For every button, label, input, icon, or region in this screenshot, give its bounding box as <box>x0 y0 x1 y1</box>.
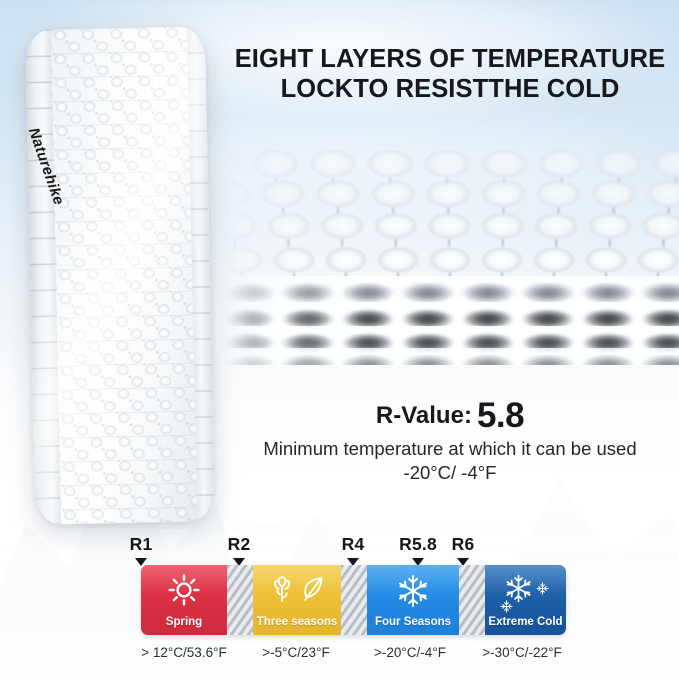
snowflakes-icon <box>485 573 566 604</box>
r-value-description: Minimum temperature at which it can be u… <box>228 437 672 484</box>
min-temp-description: Minimum temperature at which it can be u… <box>263 438 636 459</box>
segment-label: Spring <box>166 617 202 636</box>
layer-stack-illustration <box>218 150 679 365</box>
hatch-divider <box>459 565 485 635</box>
sun-icon <box>141 573 227 607</box>
temp-label-extreme-cold: >-30°C/-22°F <box>452 645 592 660</box>
segment-extreme-cold[interactable]: Extreme Cold <box>485 565 566 635</box>
product-infographic: Naturehike EIGHT LAYERS OF TEMPERATURE L… <box>0 0 679 679</box>
r-marker-r4: R4 <box>333 536 373 566</box>
headline: EIGHT LAYERS OF TEMPERATURE LOCKTO RESIS… <box>232 44 668 104</box>
r-marker-r1: R1 <box>121 536 161 566</box>
flower-leaf-icon <box>253 573 341 605</box>
sleeping-pad-product: Naturehike <box>25 26 215 525</box>
hatch-divider <box>227 565 253 635</box>
segment-three-seasons[interactable]: Three seasons <box>253 565 341 635</box>
segment-spring[interactable]: Spring <box>141 565 227 635</box>
r-marker-r6: R6 <box>443 536 483 566</box>
hatch-divider <box>341 565 367 635</box>
r-value-label: R-Value: <box>376 402 472 430</box>
headline-line-1: EIGHT LAYERS OF TEMPERATURE <box>235 45 666 73</box>
min-temp-value: -20°C/ -4°F <box>404 462 497 483</box>
segment-four-seasons[interactable]: Four Seasons <box>367 565 459 635</box>
r-marker-label: R4 <box>333 536 373 554</box>
r-marker-label: R1 <box>121 536 161 554</box>
wave-layer <box>218 348 679 365</box>
r-value-block: R-Value:5.8 <box>228 396 672 436</box>
r-marker-label: R5.8 <box>393 536 443 554</box>
segment-label: Four Seasons <box>375 617 451 636</box>
small-snowflake-icon <box>536 582 549 595</box>
snowflake-icon <box>367 573 459 609</box>
r-marker-r58: R5.8 <box>393 536 443 566</box>
headline-line-2: LOCKTO RESISTTHE COLD <box>232 74 668 104</box>
small-snowflake-icon <box>500 600 513 613</box>
r-marker-r2: R2 <box>219 536 259 566</box>
segment-label: Three seasons <box>257 617 338 636</box>
r-marker-label: R2 <box>219 536 259 554</box>
r-value-number: 5.8 <box>477 396 524 436</box>
segment-label: Extreme Cold <box>488 617 562 636</box>
temperature-range-labels: > 12°C/53.6°F >-5°C/23°F >-20°C/-4°F >-3… <box>0 645 679 669</box>
r-marker-label: R6 <box>443 536 483 554</box>
pad-body: Naturehike <box>25 26 215 525</box>
